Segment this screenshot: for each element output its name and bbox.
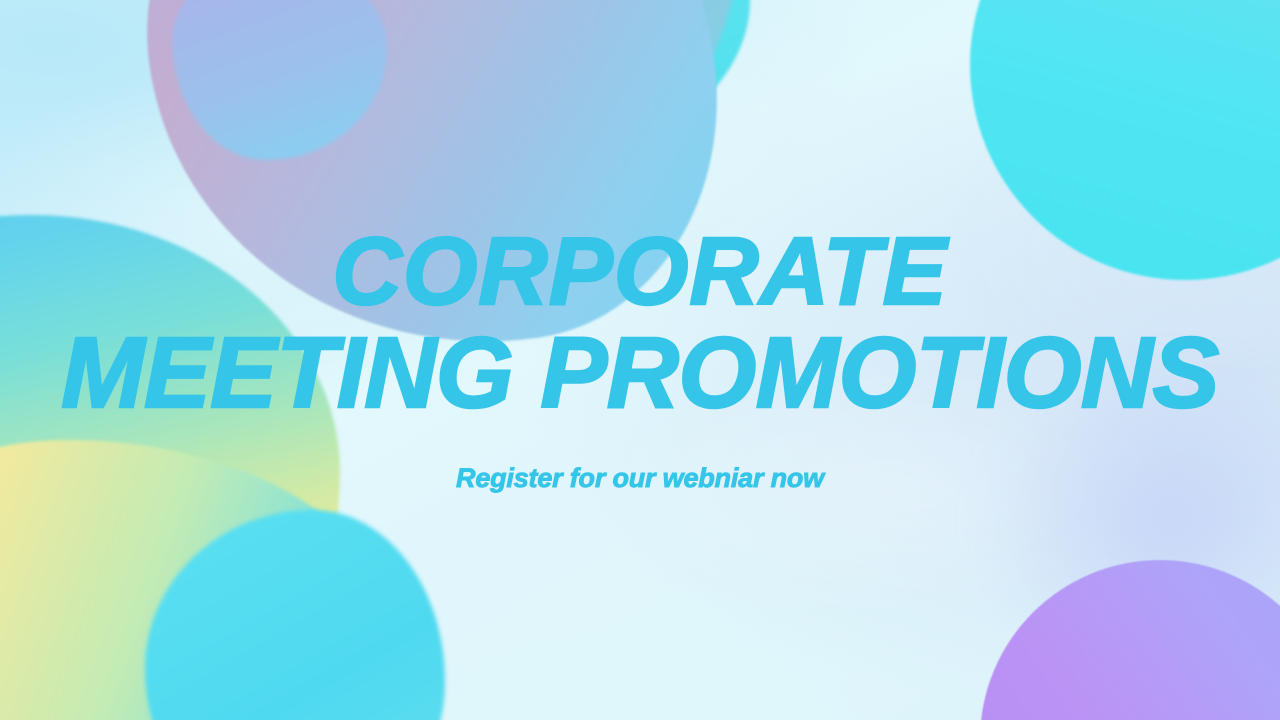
headline-line-1: CORPORATE	[61, 226, 1219, 318]
page-title: CORPORATE MEETING PROMOTIONS	[61, 226, 1219, 420]
headline-line-2: MEETING PROMOTIONS	[61, 325, 1219, 421]
poster-subtitle: Register for our webniar now	[456, 463, 824, 494]
poster-content: CORPORATE MEETING PROMOTIONS Register fo…	[0, 0, 1280, 720]
promo-poster: CORPORATE MEETING PROMOTIONS Register fo…	[0, 0, 1280, 720]
